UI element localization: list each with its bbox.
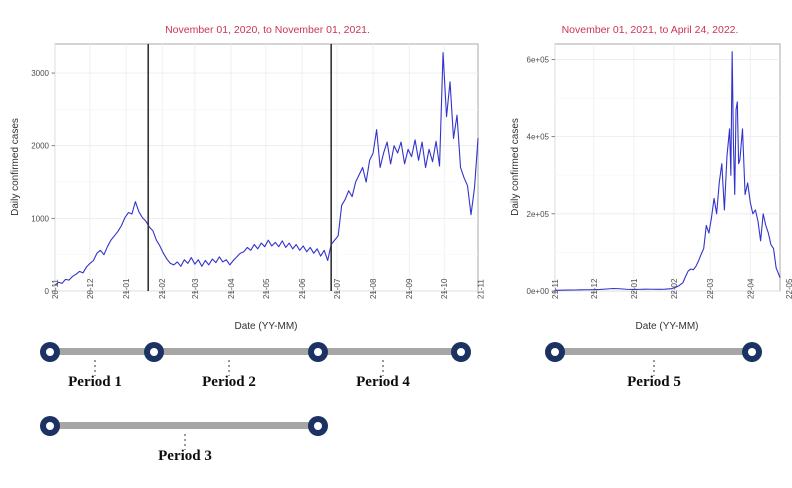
svg-text:6e+05: 6e+05: [527, 55, 550, 64]
right-y-axis-title: Daily confirmed cases: [510, 118, 521, 216]
svg-text:1000: 1000: [31, 214, 49, 223]
timeline-row-1: Period 1 Period 2 Period 4: [0, 336, 500, 396]
svg-text:21-09: 21-09: [405, 278, 414, 299]
timeline-node-8[interactable]: [742, 342, 762, 362]
svg-text:21-11: 21-11: [476, 279, 485, 299]
svg-text:21-02: 21-02: [158, 278, 167, 299]
svg-text:22-02: 22-02: [670, 278, 679, 299]
svg-text:0e+00: 0e+00: [527, 287, 550, 296]
timeline-node-4[interactable]: [451, 342, 471, 362]
timeline-row-2: Period 3: [0, 410, 500, 470]
right-x-axis-title: Date (YY-MM): [636, 321, 699, 332]
svg-text:21-08: 21-08: [369, 278, 378, 299]
svg-text:22-05: 22-05: [785, 278, 792, 299]
svg-text:21-10: 21-10: [440, 278, 449, 299]
left-x-axis-title: Date (YY-MM): [235, 321, 298, 332]
svg-text:21-05: 21-05: [262, 278, 271, 299]
timeline-row-right: Period 5: [500, 336, 792, 396]
timeline-bar-row-right: [555, 348, 752, 355]
timeline-node-6[interactable]: [308, 416, 328, 436]
svg-text:2e+05: 2e+05: [527, 210, 550, 219]
svg-text:4e+05: 4e+05: [527, 133, 550, 142]
svg-text:22-04: 22-04: [746, 278, 755, 299]
svg-text:22-01: 22-01: [630, 278, 639, 299]
timeline-bar-row1: [50, 348, 461, 355]
svg-text:21-04: 21-04: [227, 278, 236, 299]
left-plot-area: [55, 44, 478, 291]
timeline-node-3[interactable]: [308, 342, 328, 362]
left-chart-svg: 20-1120-1221-0121-0221-0321-0421-0521-06…: [0, 0, 500, 335]
svg-text:22-03: 22-03: [706, 278, 715, 299]
timeline-node-2[interactable]: [144, 342, 164, 362]
right-plot-area: [555, 44, 780, 291]
period-label-3: Period 3: [125, 448, 245, 465]
timeline-node-5[interactable]: [40, 416, 60, 436]
left-chart-panel: November 01, 2020, to November 01, 2021.…: [0, 0, 500, 335]
svg-text:20-12: 20-12: [86, 278, 95, 299]
svg-text:0: 0: [45, 287, 50, 296]
svg-text:3000: 3000: [31, 69, 49, 78]
svg-text:2000: 2000: [31, 142, 49, 151]
svg-text:21-01: 21-01: [122, 278, 131, 299]
svg-text:21-06: 21-06: [298, 278, 307, 299]
period-label-4: Period 4: [323, 374, 443, 391]
svg-text:21-11: 21-11: [551, 279, 560, 299]
timeline-node-1[interactable]: [40, 342, 60, 362]
period-label-2: Period 2: [169, 374, 289, 391]
left-y-axis-title: Daily confirmed cases: [10, 118, 21, 216]
timeline-node-7[interactable]: [545, 342, 565, 362]
svg-text:21-12: 21-12: [590, 278, 599, 299]
right-chart-panel: November 01, 2021, to April 24, 2022. 21…: [500, 0, 792, 335]
svg-text:20-11: 20-11: [51, 279, 60, 299]
right-chart-svg: 21-1121-1222-0122-0222-0322-0422-050e+00…: [500, 0, 792, 335]
svg-text:21-03: 21-03: [191, 278, 200, 299]
svg-text:21-07: 21-07: [333, 278, 342, 299]
period-label-1: Period 1: [35, 374, 155, 391]
timeline-bar-row2: [50, 422, 318, 429]
period-label-5: Period 5: [594, 374, 714, 391]
